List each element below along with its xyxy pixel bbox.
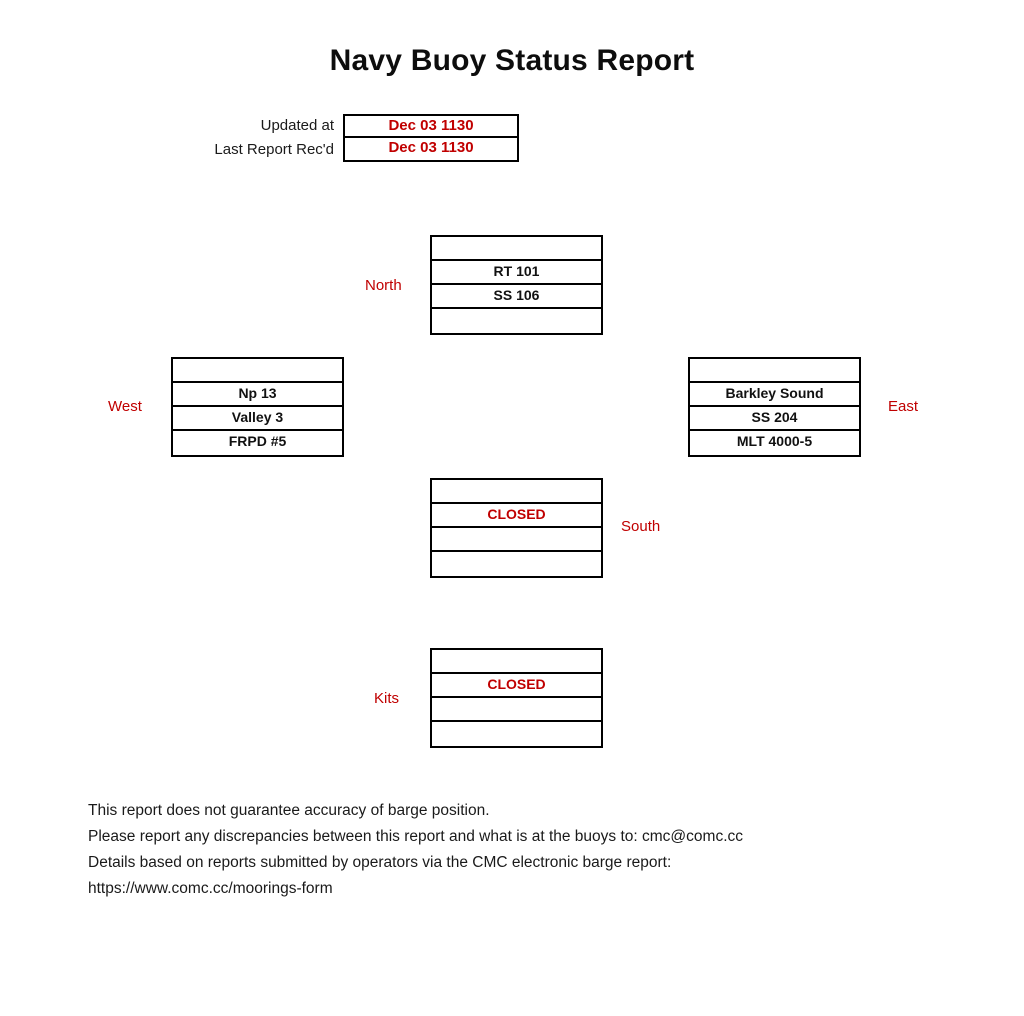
station-row: MLT 4000-5 xyxy=(690,431,859,455)
station-row xyxy=(432,480,601,504)
station-row xyxy=(432,722,601,746)
station-box-south: CLOSED xyxy=(430,478,603,578)
footer-notes: This report does not guarantee accuracy … xyxy=(88,798,948,902)
direction-label-south: South xyxy=(621,518,660,535)
direction-label-kits: Kits xyxy=(374,690,399,707)
station-row: Np 13 xyxy=(173,383,342,407)
footer-line-contact: Please report any discrepancies between … xyxy=(88,824,948,850)
station-row xyxy=(432,309,601,333)
station-row xyxy=(432,552,601,576)
footer-line-form-url[interactable]: https://www.comc.cc/moorings-form xyxy=(88,876,948,902)
station-box-west: Np 13 Valley 3 FRPD #5 xyxy=(171,357,344,457)
station-row xyxy=(432,650,601,674)
station-row: SS 106 xyxy=(432,285,601,309)
station-row xyxy=(432,528,601,552)
updated-at-label: Updated at xyxy=(175,114,343,138)
station-row: Valley 3 xyxy=(173,407,342,431)
station-box-north: RT 101 SS 106 xyxy=(430,235,603,335)
station-box-kits: CLOSED xyxy=(430,648,603,748)
updated-at-value: Dec 03 1130 xyxy=(343,114,519,138)
station-row xyxy=(173,359,342,383)
last-report-row: Last Report Rec'd Dec 03 1130 xyxy=(175,138,520,162)
updated-at-row: Updated at Dec 03 1130 xyxy=(175,114,520,138)
status-badge-closed: CLOSED xyxy=(432,674,601,698)
report-page: Navy Buoy Status Report Updated at Dec 0… xyxy=(0,0,1024,1016)
station-box-east: Barkley Sound SS 204 MLT 4000-5 xyxy=(688,357,861,457)
direction-label-east: East xyxy=(888,398,918,415)
footer-line-disclaimer: This report does not guarantee accuracy … xyxy=(88,798,948,824)
station-row xyxy=(432,237,601,261)
status-badge-closed: CLOSED xyxy=(432,504,601,528)
station-row: FRPD #5 xyxy=(173,431,342,455)
footer-line-details: Details based on reports submitted by op… xyxy=(88,850,948,876)
last-report-value: Dec 03 1130 xyxy=(343,138,519,162)
station-row: RT 101 xyxy=(432,261,601,285)
last-report-label: Last Report Rec'd xyxy=(175,138,343,162)
station-row: SS 204 xyxy=(690,407,859,431)
direction-label-west: West xyxy=(108,398,142,415)
page-title: Navy Buoy Status Report xyxy=(0,44,1024,78)
report-timestamp-block: Updated at Dec 03 1130 Last Report Rec'd… xyxy=(175,114,520,164)
station-row xyxy=(432,698,601,722)
station-row: Barkley Sound xyxy=(690,383,859,407)
direction-label-north: North xyxy=(365,277,402,294)
station-row xyxy=(690,359,859,383)
